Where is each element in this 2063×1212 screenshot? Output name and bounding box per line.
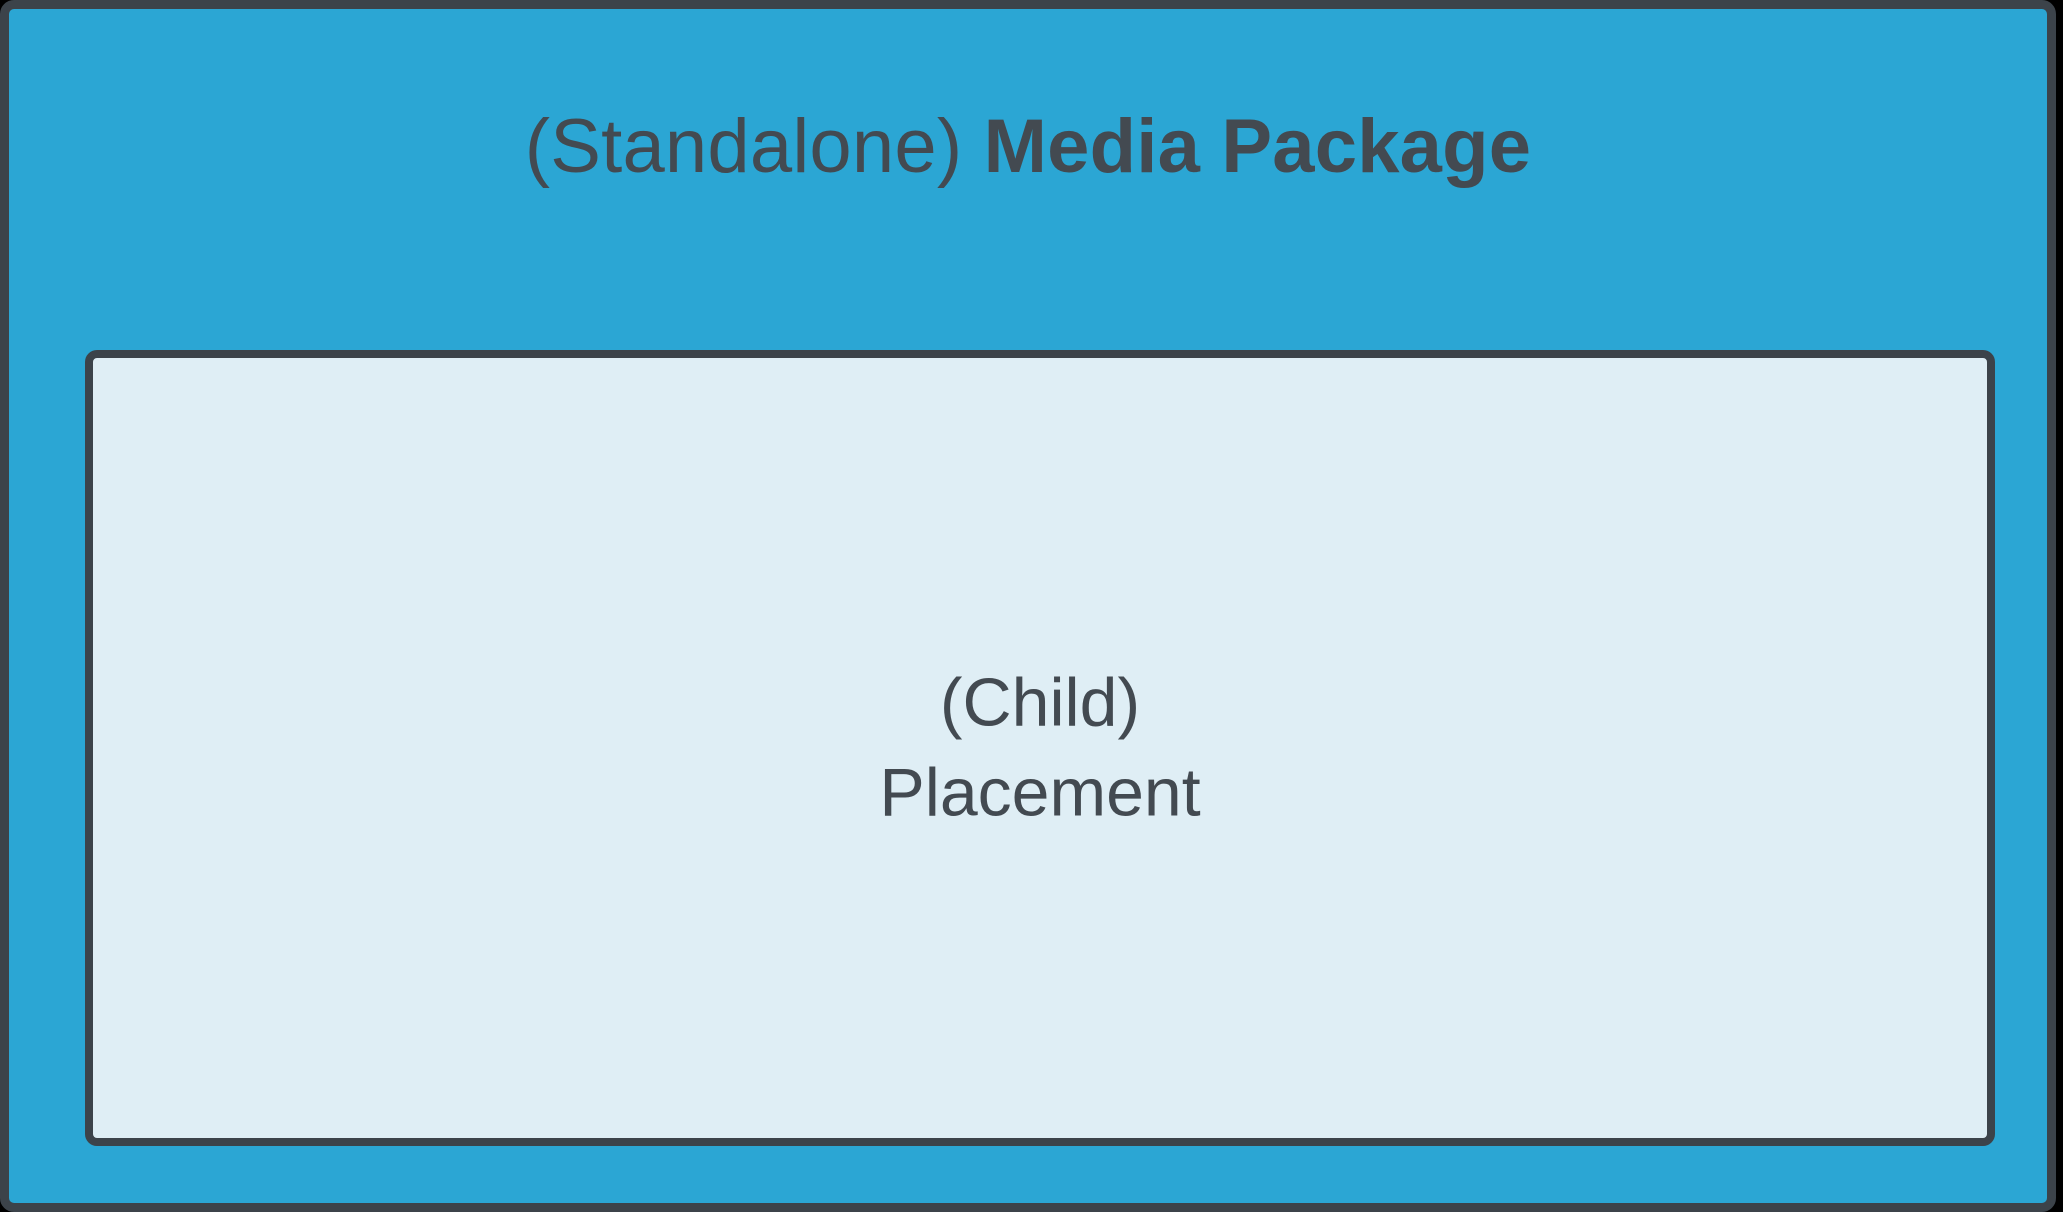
child-placement-label-line-1: (Child) [93,658,1987,748]
child-placement-label-line-2: Placement [93,748,1987,838]
title-space [962,104,983,189]
child-placement-label: (Child) Placement [93,658,1987,839]
child-placement-box[interactable]: (Child) Placement [85,350,1995,1146]
media-package-title: (Standalone) Media Package [9,107,2047,187]
media-package-title-name: Media Package [984,104,1532,189]
media-package-container[interactable]: (Standalone) Media Package (Child) Place… [0,0,2056,1212]
media-package-title-prefix: (Standalone) [525,104,963,189]
diagram-canvas: (Standalone) Media Package (Child) Place… [0,0,2063,1206]
